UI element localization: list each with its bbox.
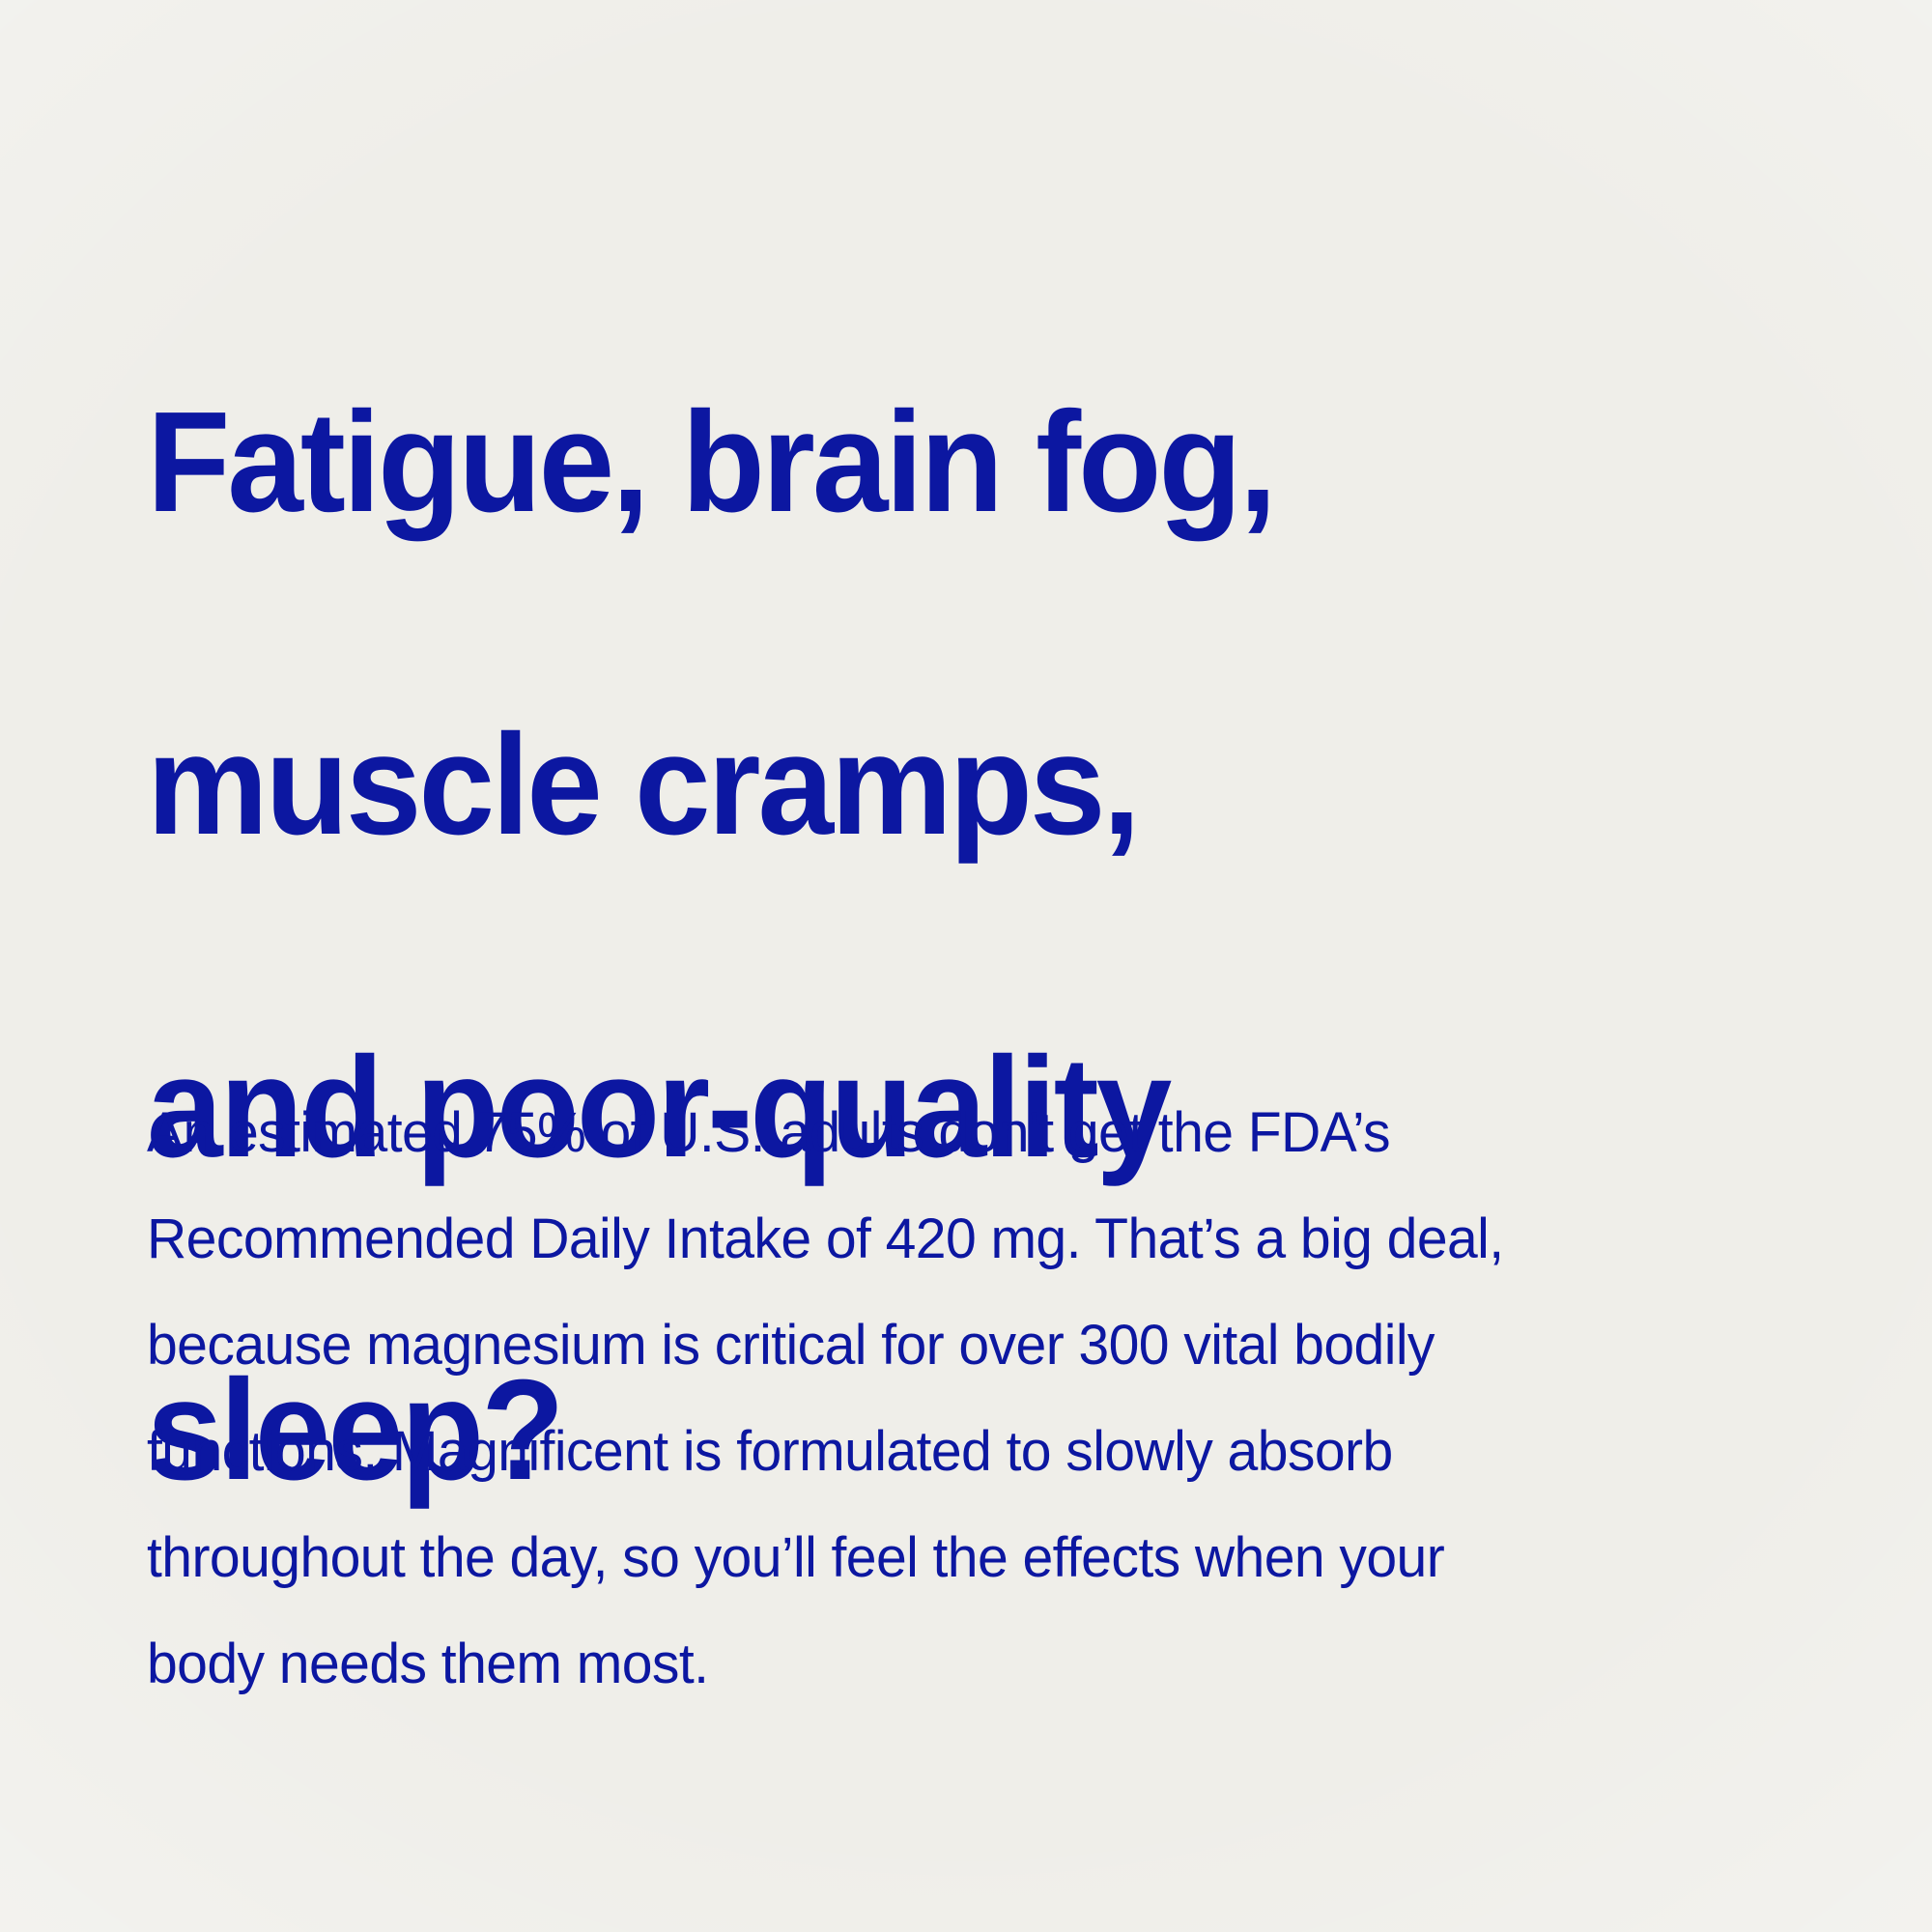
body-line-5: throughout the day, so you’ll feel the e… [147, 1505, 1765, 1611]
content-column: Fatigue, brain fog, muscle cramps, and p… [147, 0, 1789, 1932]
body-line-1: An estimated 75% of U.S. adults don't ge… [147, 1080, 1765, 1186]
body-line-4: functions. Magnificent is formulated to … [147, 1399, 1765, 1505]
body-line-6: body needs them most. [147, 1611, 1765, 1718]
promo-card: Fatigue, brain fog, muscle cramps, and p… [0, 0, 1932, 1932]
headline-line-2: muscle cramps, [147, 704, 1586, 866]
body-paragraph: An estimated 75% of U.S. adults don't ge… [147, 1080, 1765, 1718]
body-line-2: Recommended Daily Intake of 420 mg. That… [147, 1186, 1765, 1293]
body-line-3: because magnesium is critical for over 3… [147, 1293, 1765, 1399]
headline-line-1: Fatigue, brain fog, [147, 382, 1586, 543]
